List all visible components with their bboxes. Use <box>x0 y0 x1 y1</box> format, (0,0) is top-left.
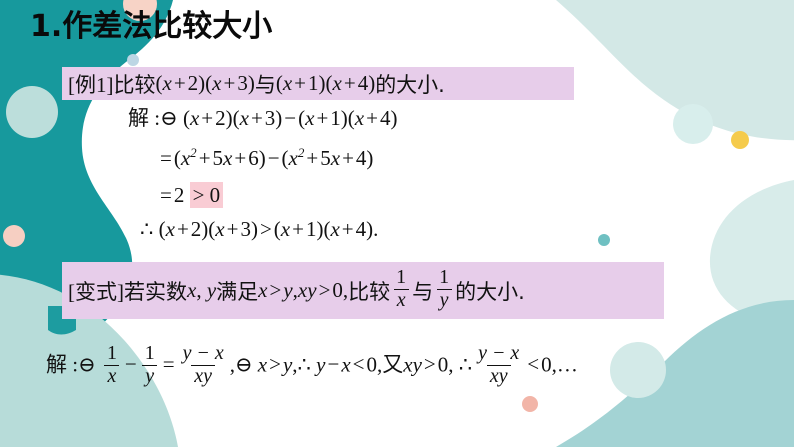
variant-text-a: 若实数 <box>124 276 187 306</box>
variant-conjunction: 与 <box>412 276 433 306</box>
variant-result-2: <0,… <box>525 352 578 376</box>
solution-label: 解 <box>128 106 149 130</box>
variant-text-b: 满足 <box>216 276 258 306</box>
example-verb: 比较 <box>114 69 156 99</box>
variant-cond-1: x>y, <box>258 278 298 303</box>
because-symbol: :⊖ <box>149 106 183 130</box>
example-conjunction: 与 <box>255 69 276 99</box>
example-tail: 的大小. <box>375 69 445 99</box>
example-lhs: (x+2)(x+3) <box>156 71 255 96</box>
variant-solution-line: 解 :⊖ 1x−1y=y − xxy,⊖ x>y,∴ y−x<0,又xy>0, … <box>46 345 578 388</box>
example-solution-line-2: =(x2+5x+6)−(x2+5x+4) <box>158 146 373 169</box>
variant-vars: x, y <box>187 278 216 303</box>
minus-operator: − <box>123 352 139 376</box>
variant-verb: 比较 <box>348 276 390 306</box>
slide-content: 1.作差法比较大小 [例1]比较(x+2)(x+3)与(x+1)(x+4)的大小… <box>0 0 794 447</box>
fraction-one-over-y: 1y <box>142 344 158 387</box>
variant-tail: 的大小. <box>455 276 525 306</box>
greater-than-zero-highlight: > 0 <box>190 182 224 208</box>
therefore-2: ∴ <box>459 352 472 376</box>
variant-cond-2: xy>0, <box>298 278 348 303</box>
variant-tag: [变式] <box>68 276 124 306</box>
variant-cond-xy-gt-0: xy>0, <box>403 352 459 376</box>
page-title: 1.作差法比较大小 <box>30 8 272 46</box>
example-solution-line-3: =2 > 0 <box>158 185 223 206</box>
equals-operator: = <box>161 352 177 376</box>
fraction-y-minus-x-over-xy: y − xxy <box>180 344 227 387</box>
variant-problem-banner: [变式]若实数x, y满足x>y,xy>0,比较1x与1y的大小. <box>62 262 664 319</box>
example-problem-banner: [例1]比较(x+2)(x+3)与(x+1)(x+4)的大小. <box>62 67 574 100</box>
variant-solution-label: 解 <box>46 352 67 376</box>
example-solution-line-4: ∴ (x+2)(x+3)>(x+1)(x+4). <box>140 219 378 240</box>
example-solution-line-1: 解 :⊖ (x+2)(x+3)−(x+1)(x+4) <box>128 108 397 129</box>
slide-canvas: 1.作差法比较大小 [例1]比较(x+2)(x+3)与(x+1)(x+4)的大小… <box>0 0 794 447</box>
variant-result-1: y−x<0, <box>311 352 382 376</box>
example-rhs: (x+1)(x+4) <box>276 71 375 96</box>
variant-because-symbol-2: ⊖ <box>235 352 258 376</box>
variant-fraction-one-over-x: 1x <box>393 268 409 311</box>
variant-because-symbol-1: :⊖ <box>67 352 101 376</box>
fraction-y-minus-x-over-xy-2: y − xxy <box>475 344 522 387</box>
example-tag: [例1] <box>68 69 114 99</box>
variant-again: 又 <box>382 352 403 376</box>
variant-cond-x-gt-y: x>y, <box>258 352 298 376</box>
fraction-one-over-x: 1x <box>104 344 120 387</box>
therefore-1: ∴ <box>298 352 311 376</box>
variant-fraction-one-over-y: 1y <box>436 268 452 311</box>
